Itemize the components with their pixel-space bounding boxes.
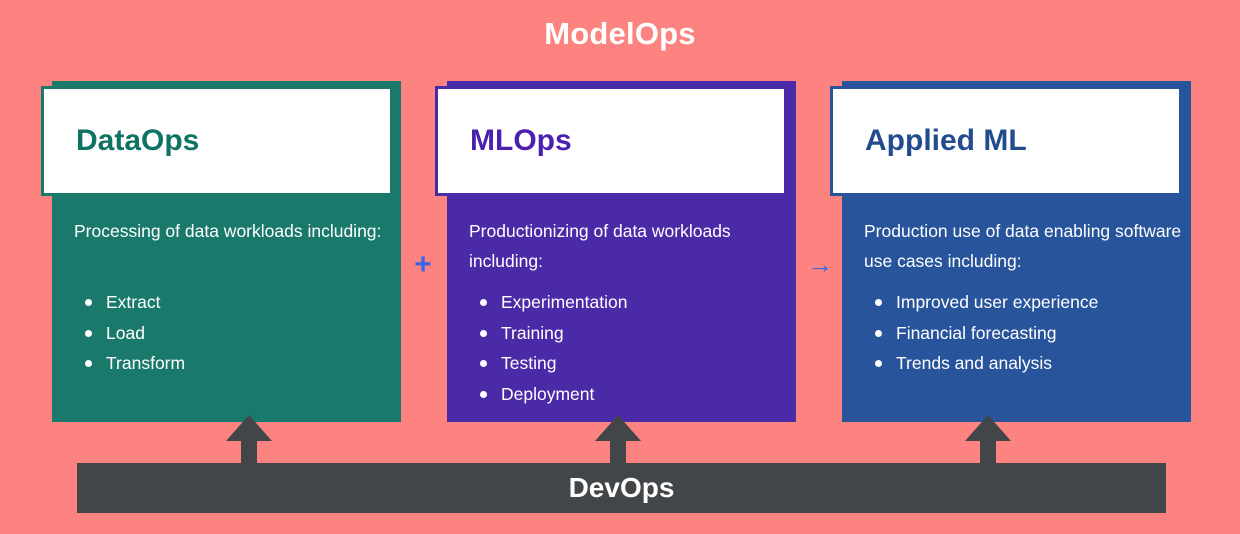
up-arrow-icon-appliedml	[965, 415, 1011, 465]
column-header-card-dataops: DataOps	[41, 86, 393, 196]
list-item: Transform	[74, 348, 394, 379]
arrow-head	[595, 415, 641, 441]
column-title-mlops: MLOps	[470, 122, 572, 160]
column-description-appliedml: Production use of data enabling software…	[864, 216, 1194, 276]
column-description-dataops: Processing of data workloads including:	[74, 216, 394, 246]
column-title-dataops: DataOps	[76, 122, 199, 160]
plus-icon: +	[403, 250, 443, 280]
list-item: Training	[469, 318, 789, 349]
list-item: Improved user experience	[864, 287, 1194, 318]
arrow-shaft	[241, 440, 257, 465]
column-header-card-appliedml: Applied ML	[830, 86, 1182, 196]
list-item: Financial forecasting	[864, 318, 1194, 349]
column-list-appliedml: Improved user experience Financial forec…	[864, 287, 1194, 379]
diagram-canvas: ModelOps Processing of data workloads in…	[0, 0, 1240, 534]
list-item: Load	[74, 318, 394, 349]
list-item: Experimentation	[469, 287, 789, 318]
page-title: ModelOps	[0, 14, 1240, 54]
column-header-card-mlops: MLOps	[435, 86, 787, 196]
column-list-mlops: Experimentation Training Testing Deploym…	[469, 287, 789, 409]
arrow-head	[226, 415, 272, 441]
foundation-bar-devops: DevOps	[77, 463, 1166, 513]
column-list-dataops: Extract Load Transform	[74, 287, 394, 379]
list-item: Deployment	[469, 379, 789, 410]
column-title-appliedml: Applied ML	[865, 122, 1027, 160]
column-description-mlops: Productionizing of data workloads includ…	[469, 216, 789, 276]
arrow-shaft	[980, 440, 996, 465]
list-item: Trends and analysis	[864, 348, 1194, 379]
arrow-shaft	[610, 440, 626, 465]
list-item: Testing	[469, 348, 789, 379]
up-arrow-icon-mlops	[595, 415, 641, 465]
up-arrow-icon-dataops	[226, 415, 272, 465]
foundation-label: DevOps	[77, 463, 1166, 513]
list-item: Extract	[74, 287, 394, 318]
right-arrow-icon: →	[800, 249, 840, 279]
arrow-head	[965, 415, 1011, 441]
